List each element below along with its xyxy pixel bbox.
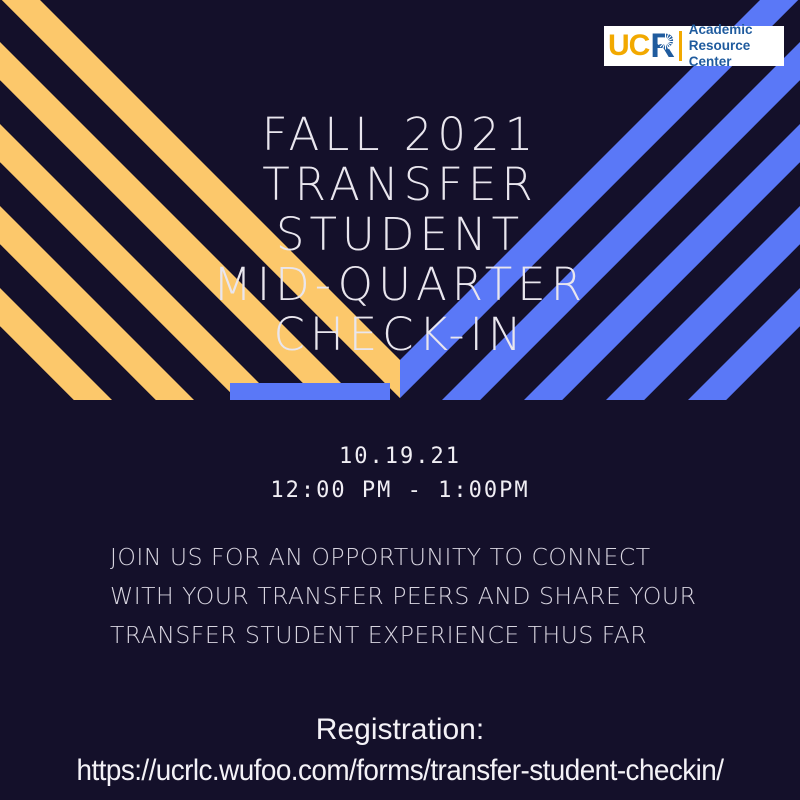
registration-block: Registration: https://ucrlc.wufoo.com/fo… bbox=[0, 710, 800, 792]
title-line-1: FALL 2021 bbox=[0, 110, 800, 160]
event-description: JOIN US FOR AN OPPORTUNITY TO CONNECT WI… bbox=[0, 538, 800, 655]
logo-line-2: Resource Center bbox=[689, 38, 784, 70]
description-line-3: TRANSFER STUDENT EXPERIENCE THUS FAR bbox=[110, 616, 800, 655]
accent-divider-bar bbox=[230, 383, 390, 400]
title-line-5: CHECK-IN bbox=[0, 310, 800, 360]
title-line-4: MID-QUARTER bbox=[0, 260, 800, 310]
event-datetime: 10.19.21 12:00 PM - 1:00PM bbox=[0, 440, 800, 508]
description-line-2: WITH YOUR TRANSFER PEERS AND SHARE YOUR bbox=[110, 577, 800, 616]
event-flyer: UC R bbox=[0, 0, 800, 800]
logo-divider bbox=[679, 31, 682, 61]
ucr-arc-logo: UC R bbox=[604, 26, 784, 66]
logo-line-1: Academic bbox=[689, 22, 784, 38]
description-line-1: JOIN US FOR AN OPPORTUNITY TO CONNECT bbox=[110, 538, 800, 577]
registration-label: Registration: bbox=[0, 710, 800, 750]
title-line-3: STUDENT bbox=[0, 210, 800, 260]
event-date: 10.19.21 bbox=[0, 440, 800, 474]
registration-url[interactable]: https://ucrlc.wufoo.com/forms/transfer-s… bbox=[28, 750, 772, 792]
event-time: 12:00 PM - 1:00PM bbox=[0, 474, 800, 508]
page-title: FALL 2021 TRANSFER STUDENT MID-QUARTER C… bbox=[0, 110, 800, 360]
logo-uc-text: UC bbox=[608, 31, 649, 61]
logo-wordmark: Academic Resource Center bbox=[689, 22, 784, 70]
starburst-icon bbox=[657, 33, 674, 50]
title-line-2: TRANSFER bbox=[0, 160, 800, 210]
logo-r-mark: R bbox=[650, 30, 674, 62]
